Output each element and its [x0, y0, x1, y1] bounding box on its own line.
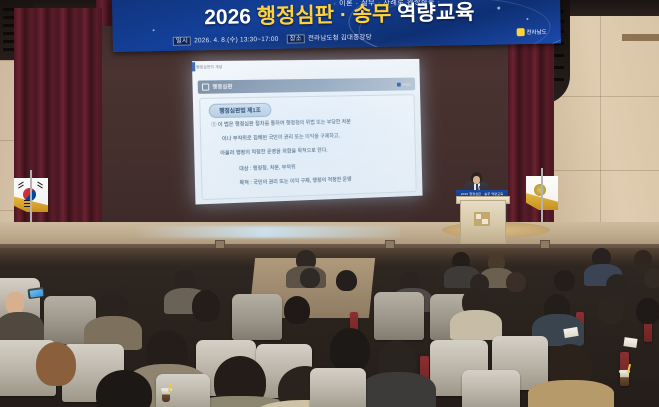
slide-header-bar: 행정심판 전라남도: [198, 78, 416, 94]
audience-body: [360, 372, 436, 407]
audience-body: [450, 310, 502, 340]
audience-head: [300, 268, 320, 288]
banner-datetime-tag: 일시: [173, 36, 192, 45]
document-icon: [202, 83, 209, 90]
flag-pole: [30, 170, 32, 230]
event-banner: · 이론 · 실무 · 사례로 완성하는 · 2026 행정심판 · 송무 역량…: [112, 0, 561, 52]
banner-title-part1: 행정심판 · 송무: [257, 3, 392, 29]
flag-pole: [541, 168, 543, 230]
slide-title: 행정심판법 제1조: [209, 103, 272, 118]
wall-seam: [539, 170, 659, 171]
slide-breadcrumb: 행정심판의 개념: [196, 64, 222, 69]
presenter-face: [473, 176, 480, 184]
slide-header-logo: 전라남도: [397, 82, 411, 86]
projection-screen: 행정심판의 개념 행정심판 전라남도 행정심판법 제1조 ① 이 법은 행정심판…: [192, 59, 423, 205]
audience-head: [330, 328, 370, 372]
slide-line-2: 이나 부작위로 침해된 국민의 권리 또는 이익을 구제하고,: [222, 132, 340, 142]
audience-head: [336, 270, 357, 291]
audience-body: [528, 380, 614, 407]
provincial-emblem-icon: [534, 184, 546, 196]
banner-place: 전라남도청 김대중강당: [308, 34, 372, 42]
banner-org-logo: 전라남도: [516, 28, 546, 37]
banner-year: 2026: [204, 5, 251, 29]
audience-head: [506, 272, 526, 292]
audience-area: [0, 248, 659, 407]
projector-light-spill: [130, 226, 400, 238]
raised-hand: [6, 292, 24, 314]
phone-screen: [29, 289, 43, 298]
banner-org-name: 전라남도: [526, 28, 546, 36]
audience-head: [636, 298, 659, 324]
audience-head: [598, 296, 624, 324]
handout-paper: [623, 337, 637, 348]
wall-recess: [622, 34, 659, 41]
lecture-hall-photo: · 이론 · 실무 · 사례로 완성하는 · 2026 행정심판 · 송무 역량…: [0, 0, 659, 407]
slide-line-3: 아울러 행정의 적정한 운영을 꾀함을 목적으로 한다.: [220, 147, 328, 157]
banner-place-tag: 장소: [286, 34, 305, 43]
slide-accent-bar: [192, 62, 195, 71]
banner-title-part2: 역량교육: [397, 1, 475, 25]
slide-content-area: 행정심판법 제1조 ① 이 법은 행정심판 절차를 통하여 행정청의 위법 또는…: [199, 94, 417, 200]
audience-head: [284, 296, 310, 324]
smartphone-camera: [27, 287, 44, 299]
audience-head: [554, 270, 575, 291]
jeollanamdo-logo-icon: [397, 82, 401, 86]
slide-line-1: ① 이 법은 행정심판 절차를 통하여 행정청의 위법 또는 부당한 처분: [211, 118, 351, 128]
audience-head: [606, 274, 628, 296]
jeollanamdo-emblem-icon: [474, 212, 490, 226]
slide-line-5: 목적 : 국민의 권리 또는 이익 구제, 행정의 적정한 운영: [239, 176, 351, 187]
audience-head: [36, 342, 76, 386]
audience-head: [192, 290, 220, 322]
slide-header-logo-text: 전라남도: [402, 82, 411, 86]
slide-line-4: 대상 : 행정청, 처분, 부작위: [239, 163, 296, 172]
audience-head: [634, 250, 652, 268]
banner-datetime: 2026. 4. 8.(수) 13:30~17:00: [194, 36, 278, 45]
drink-cup: [620, 372, 629, 386]
wall-seam: [600, 0, 601, 250]
jeollanamdo-logo-icon: [516, 28, 524, 36]
slide-header-label: 행정심판: [212, 83, 232, 90]
audience-head: [644, 268, 659, 288]
